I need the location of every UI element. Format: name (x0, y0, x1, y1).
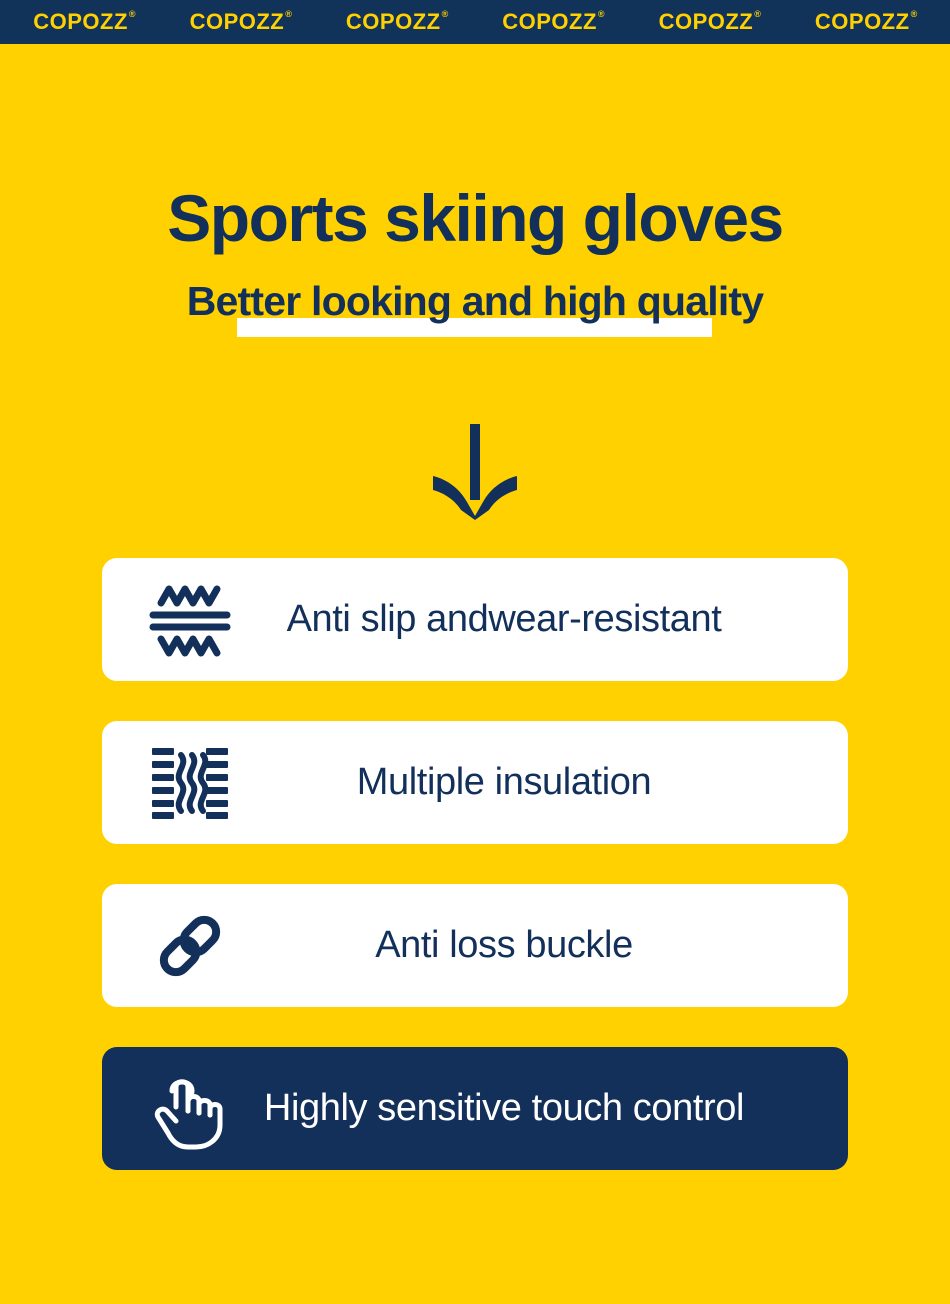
registered-mark: ® (754, 9, 761, 19)
brand-band: COPOZZ® COPOZZ® COPOZZ® COPOZZ® COPOZZ® … (0, 0, 950, 44)
chain-link-icon (144, 900, 236, 992)
brand-name: COPOZZ (346, 9, 441, 34)
brand-name: COPOZZ (33, 9, 128, 34)
brand-name: COPOZZ (502, 9, 597, 34)
feature-card-anti-slip[interactable]: Anti slip andwear-resistant (102, 558, 848, 681)
brand-name: COPOZZ (659, 9, 754, 34)
brand-logo-text: COPOZZ® (502, 11, 604, 33)
registered-mark: ® (598, 9, 605, 19)
brand-logo-text: COPOZZ® (346, 11, 448, 33)
brand-name: COPOZZ (190, 9, 285, 34)
brand-logo-text: COPOZZ® (815, 11, 917, 33)
down-arrow-icon (429, 424, 521, 520)
brand-name: COPOZZ (815, 9, 910, 34)
registered-mark: ® (129, 9, 136, 19)
feature-card-insulation[interactable]: Multiple insulation (102, 721, 848, 844)
arrow-container (0, 424, 950, 520)
anti-slip-texture-icon (144, 574, 236, 666)
subtitle-wrapper: Better looking and high quality (0, 279, 950, 339)
page-title: Sports skiing gloves (0, 44, 950, 253)
registered-mark: ® (442, 9, 449, 19)
brand-logo-text: COPOZZ® (659, 11, 761, 33)
touch-hand-icon (144, 1063, 236, 1155)
hero-section: Sports skiing gloves Better looking and … (0, 44, 950, 339)
brand-logo-text: COPOZZ® (190, 11, 292, 33)
feature-card-touch-control[interactable]: Highly sensitive touch control (102, 1047, 848, 1170)
page-subtitle: Better looking and high quality (0, 279, 950, 324)
registered-mark: ® (911, 9, 918, 19)
feature-card-list: Anti slip andwear-resistant (102, 558, 848, 1170)
feature-card-anti-loss-buckle[interactable]: Anti loss buckle (102, 884, 848, 1007)
insulation-layers-icon (144, 737, 236, 829)
registered-mark: ® (285, 9, 292, 19)
brand-logo-text: COPOZZ® (33, 11, 135, 33)
